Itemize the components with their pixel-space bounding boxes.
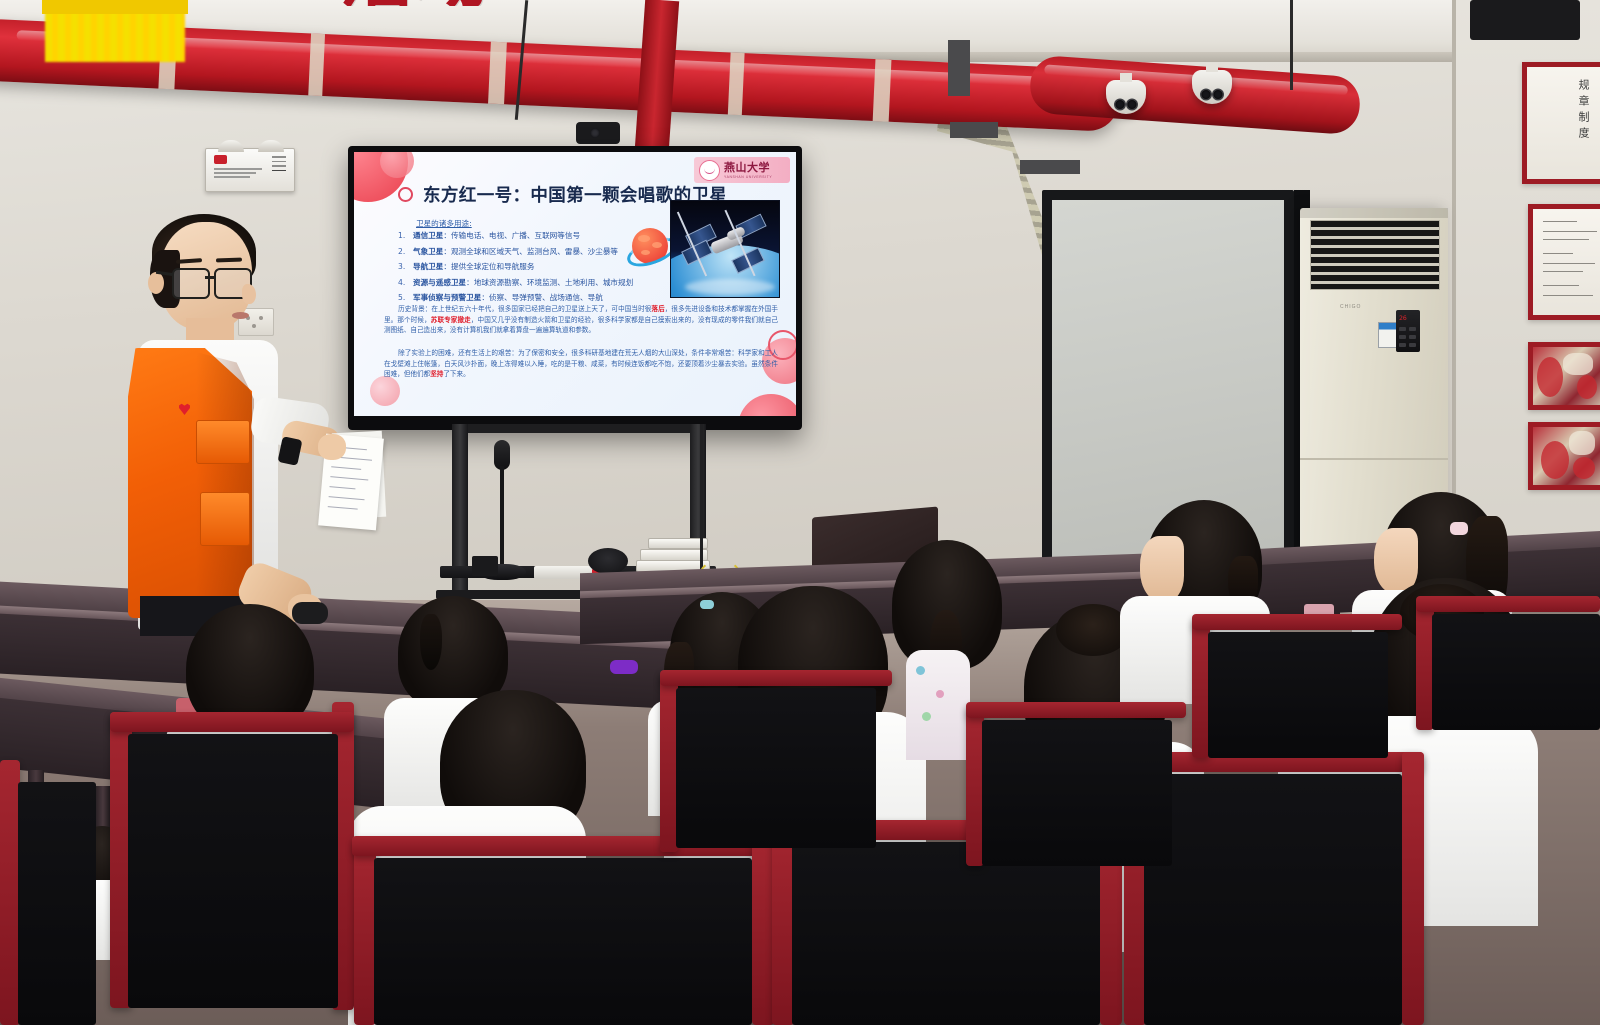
- list-item-bold: 军事侦察与预警卫星: [413, 293, 481, 302]
- wall-frame-regulations: 规章制度: [1522, 62, 1600, 184]
- wall-frame-photo-1: [1528, 342, 1600, 410]
- para1-part-a: 历史背景：在上世纪五六十年代，很多国家已经把自己的卫星送上天了，可中国当时很: [398, 305, 651, 313]
- presenter-ear: [148, 272, 164, 294]
- chair-backrest[interactable]: [982, 720, 1172, 866]
- video-conference-camera: [576, 122, 620, 144]
- list-item-rest: ：地球资源勘察、环境监测、土地利用、城市规划: [466, 278, 633, 287]
- chair-back-rail[interactable]: [660, 670, 892, 686]
- child-hair-strand: [420, 614, 442, 670]
- ac-brand-label: CHIGO: [1340, 304, 1361, 310]
- list-item-number: 3.: [398, 263, 407, 271]
- history-paragraph-1: 历史背景：在上世纪五六十年代，很多国家已经把自己的卫星送上天了，可中国当时很落后…: [384, 304, 778, 336]
- wall-frame-document: [1528, 204, 1600, 320]
- tv-stand-crossbar: [452, 424, 706, 433]
- vest-pocket-lower: [200, 492, 250, 546]
- list-item-bold: 资源与遥感卫星: [413, 278, 466, 287]
- pattern-dot-icon: [922, 712, 931, 721]
- chair-back-rail[interactable]: [110, 712, 354, 732]
- pipe-bracket-2: [950, 122, 998, 138]
- presenter-right-hand: [318, 434, 346, 460]
- ceiling-black-box: [1470, 0, 1580, 40]
- list-item-bold: 气象卫星: [413, 247, 443, 256]
- ac-energy-label: [1378, 322, 1397, 348]
- chair-post[interactable]: [772, 824, 794, 1025]
- chair-backrest[interactable]: [1144, 774, 1402, 1025]
- chair-post[interactable]: [354, 840, 376, 1025]
- list-item-number: 1.: [398, 232, 407, 240]
- list-item-number: 4.: [398, 279, 407, 287]
- chair-post[interactable]: [0, 760, 20, 1025]
- chair-backrest[interactable]: [18, 782, 96, 1025]
- slide-screen-area: 燕山大学 YANSHAN UNIVERSITY 东方红一号：中国第一颗会唱歌的卫…: [354, 152, 796, 416]
- list-item-bold: 导航卫星: [413, 262, 443, 271]
- hair-tie-icon: [700, 600, 714, 609]
- list-item-rest: ：提供全球定位和导航服务: [443, 262, 534, 271]
- banner-text: 活动: [340, 0, 488, 6]
- child-patterned-top: [906, 650, 970, 760]
- decor-blob-4: [738, 394, 796, 416]
- frame-title-text: 规章制度: [1575, 79, 1591, 143]
- presentation-slide: 燕山大学 YANSHAN UNIVERSITY 东方红一号：中国第一颗会唱歌的卫…: [354, 152, 796, 416]
- list-item: 5. 军事侦察与预警卫星：侦察、导弹预警、战场通信、导航: [398, 294, 688, 302]
- decor-blob-5: [370, 376, 400, 406]
- university-name: 燕山大学: [724, 162, 772, 173]
- list-item-rest: ：传输电话、电视、广播、互联网等信号: [443, 231, 580, 240]
- desk-item-purple: [610, 660, 638, 674]
- chair-backrest[interactable]: [128, 734, 338, 1008]
- list-item-bold: 通信卫星: [413, 231, 443, 240]
- brand-logo-icon: [214, 155, 227, 164]
- ac-temperature-display: 26: [1399, 314, 1407, 322]
- gooseneck-microphone[interactable]: [498, 440, 506, 570]
- chair-post[interactable]: [752, 836, 774, 1025]
- presenter-nose: [242, 284, 256, 304]
- handheld-device[interactable]: [292, 602, 328, 624]
- ringed-planet-icon: [626, 224, 672, 270]
- chair-back-rail[interactable]: [966, 702, 1186, 718]
- vest-pocket-upper: [196, 420, 250, 464]
- university-name-en: YANSHAN UNIVERSITY: [724, 175, 772, 179]
- network-switch-top: [648, 538, 708, 549]
- child-hair-bun: [1056, 604, 1130, 656]
- pattern-dot-icon: [916, 666, 925, 675]
- pattern-dot-icon: [936, 690, 944, 698]
- pipe-bracket-3: [1020, 160, 1080, 174]
- tassel-mount: [42, 0, 188, 14]
- chair-backrest[interactable]: [792, 842, 1100, 1025]
- microphone-stem: [500, 466, 504, 570]
- door-glass-panel: [1052, 200, 1284, 558]
- list-item: 4. 资源与遥感卫星：地球资源勘察、环境监测、土地利用、城市规划: [398, 279, 688, 287]
- wall-frame-photo-2: [1528, 422, 1600, 490]
- hanging-cable-right: [1290, 0, 1293, 90]
- tv-stand-left-post: [452, 424, 468, 606]
- para2-part-b: 了下来。: [443, 370, 469, 378]
- para2-highlight: 坚持: [430, 370, 443, 378]
- emergency-exit-light: [205, 148, 295, 192]
- eyeglasses-bridge: [205, 276, 215, 279]
- chair-back-rail[interactable]: [1416, 596, 1600, 612]
- chair-post[interactable]: [1402, 752, 1424, 1025]
- university-seal-icon: [699, 160, 720, 181]
- headset: [588, 548, 628, 574]
- list-item-rest: ：侦察、导弹预警、战场通信、导航: [481, 293, 603, 302]
- child-face: [1374, 528, 1418, 594]
- list-heading: 卫星的诸多用途:: [416, 218, 472, 229]
- wall-banner: 活动: [340, 0, 610, 6]
- child-face: [1140, 536, 1184, 602]
- classroom-presentation-photo: 活动: [0, 0, 1600, 1025]
- eyeglasses-lens-left: [172, 268, 210, 299]
- chair-back-rail[interactable]: [1192, 614, 1402, 630]
- chair-backrest[interactable]: [1432, 614, 1600, 730]
- chair-backrest[interactable]: [374, 858, 752, 1025]
- pipe-bracket-1: [948, 40, 970, 96]
- circle-bullet-icon: [398, 187, 413, 202]
- black-equipment-block: [472, 556, 498, 576]
- presenter-mouth: [232, 312, 249, 319]
- wall-display-screen[interactable]: 燕山大学 YANSHAN UNIVERSITY 东方红一号：中国第一颗会唱歌的卫…: [348, 146, 802, 430]
- para1-highlight-1: 落后: [651, 305, 664, 313]
- space-station-photo: [670, 200, 780, 298]
- ac-control-panel[interactable]: 26: [1396, 310, 1420, 352]
- chair-backrest[interactable]: [1208, 632, 1388, 758]
- list-item-number: 5.: [398, 294, 407, 302]
- university-logo: 燕山大学 YANSHAN UNIVERSITY: [694, 157, 790, 183]
- ac-air-louvers: [1310, 220, 1440, 290]
- equipment-cable: [700, 424, 703, 574]
- para1-highlight-2: 苏联专家撤走: [431, 316, 471, 324]
- list-item-rest: ：观测全球和区域天气、监测台风、雷暴、沙尘暴等: [443, 247, 618, 256]
- list-item-number: 2.: [398, 248, 407, 256]
- hair-tie-icon: [1450, 522, 1468, 535]
- camera-lens-icon: [590, 128, 600, 138]
- history-paragraph-2: 除了实验上的困难，还有生活上的艰苦：为了保密和安全，很多科研基地建在荒无人烟的大…: [384, 348, 778, 380]
- chair-backrest[interactable]: [676, 688, 876, 848]
